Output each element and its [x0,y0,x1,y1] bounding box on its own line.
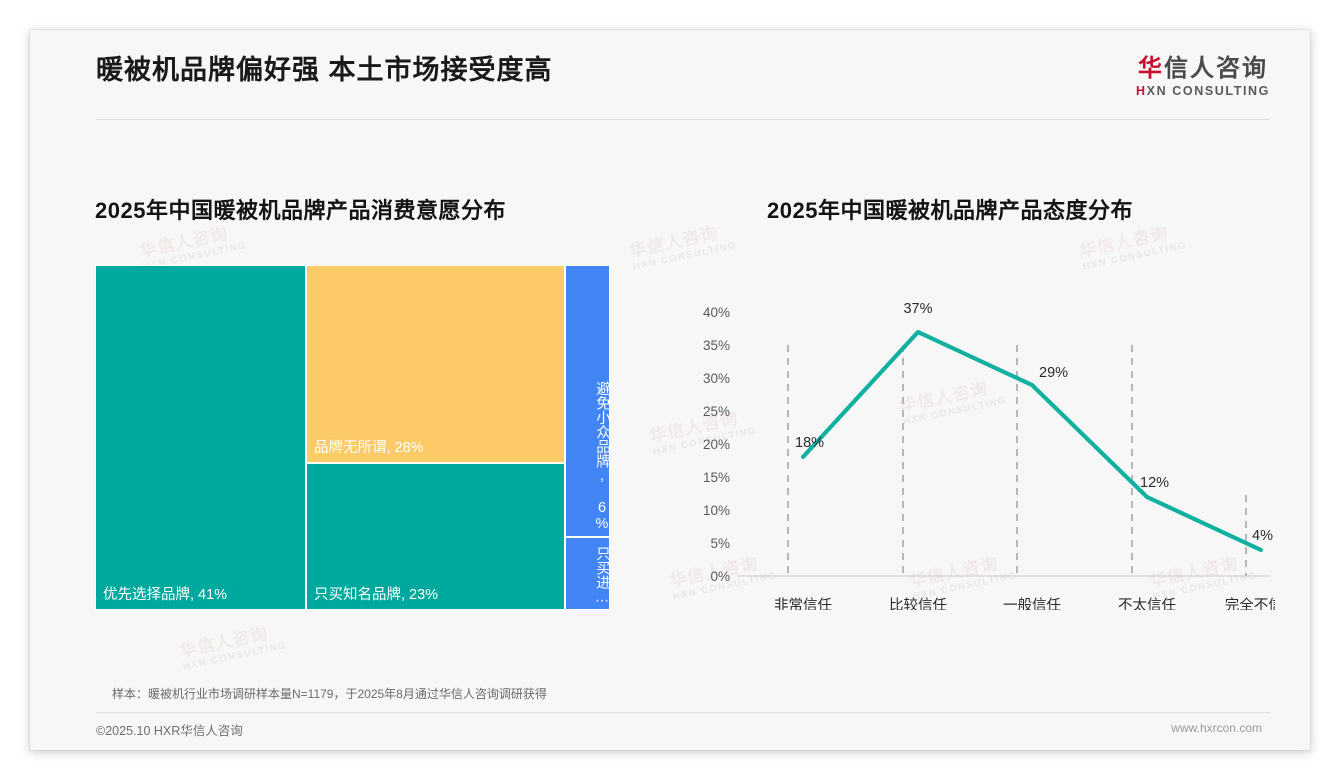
y-tick-20: 20% [703,437,730,452]
y-tick-25: 25% [703,404,730,419]
treemap-cell-label: 优先选择品牌, 41% [103,583,227,604]
point-label-4: 12% [1140,475,1169,491]
y-tick-35: 35% [703,338,730,353]
page-title: 暖被机品牌偏好强 本土市场接受度高 [96,48,553,87]
treemap-cell-priority-brand[interactable]: 优先选择品牌, 41% [95,265,306,610]
treemap-cell-brand-indifferent[interactable]: 品牌无所谓, 28% [306,265,565,463]
company-logo: 华信人咨询 HXN CONSULTING [1136,56,1270,98]
watermark: 华信人咨询HXN CONSULTING [178,619,288,673]
footer-divider [96,712,1270,713]
y-tick-40: 40% [703,305,730,320]
website-url[interactable]: www.hxrcon.com [1171,721,1262,735]
y-tick-30: 30% [703,371,730,386]
trust-line-series[interactable] [803,332,1261,550]
treemap-chart: 优先选择品牌, 41% 品牌无所谓, 28% 只买知名品牌, 23% 避免小众品… [95,265,610,610]
treemap-cell-famous-brand-only[interactable]: 只买知名品牌, 23% [306,463,565,610]
y-axis-ticks: 40% 35% 30% 25% 20% 15% 10% 5% 0% [703,305,730,584]
category-label-4: 不太信任 [1118,597,1176,610]
logo-en-rest: XN CONSULTING [1147,84,1270,98]
logo-en-red: H [1136,84,1147,98]
y-tick-10: 10% [703,503,730,518]
x-axis-categories: 非常信任 比较信任 一般信任 不太信任 完全不信任 [774,596,1275,610]
treemap-cell-label: 只买进… [566,546,609,606]
point-labels: 18% 37% 29% 12% 4% [795,301,1273,544]
treemap-cell-label: 避免小众品牌, 6% [566,381,609,532]
treemap-cell-avoid-niche-brand[interactable]: 避免小众品牌, 6% [565,265,610,537]
logo-english: HXN CONSULTING [1136,84,1270,98]
point-label-2: 37% [903,301,932,317]
logo-cn-red: 华 [1138,55,1164,82]
logo-cn-rest: 信人咨询 [1164,55,1268,82]
category-label-2: 比较信任 [889,596,947,610]
right-chart-title: 2025年中国暖被机品牌产品态度分布 [767,193,1133,225]
header-divider [96,119,1270,120]
y-tick-15: 15% [703,470,730,485]
left-chart-title: 2025年中国暖被机品牌产品消费意愿分布 [95,193,506,225]
category-label-3: 一般信任 [1003,597,1061,610]
line-chart: 40% 35% 30% 25% 20% 15% 10% 5% 0% [655,265,1275,610]
treemap-cell-imported-brand-only[interactable]: 只买进… [565,537,610,610]
source-footnote: 样本：暖被机行业市场调研样本量N=1179，于2025年8月通过华信人咨询调研获… [112,685,547,702]
treemap-cell-label: 品牌无所谓, 28% [314,436,424,457]
point-label-3: 29% [1039,365,1068,381]
point-label-1: 18% [795,435,824,451]
y-tick-0: 0% [710,569,730,584]
point-label-5: 4% [1252,528,1273,544]
logo-chinese: 华信人咨询 [1136,56,1270,82]
copyright-text: ©2025.10 HXR华信人咨询 [96,720,243,739]
line-chart-svg: 40% 35% 30% 25% 20% 15% 10% 5% 0% [655,265,1275,610]
category-label-5: 完全不信任 [1225,596,1275,610]
y-tick-5: 5% [710,536,730,551]
slide-header: 暖被机品牌偏好强 本土市场接受度高 华信人咨询 HXN CONSULTING [30,30,1310,100]
category-label-1: 非常信任 [774,597,832,610]
treemap-cell-label: 只买知名品牌, 23% [314,583,438,604]
slide-canvas: 华信人咨询HXN CONSULTING 华信人咨询HXN CONSULTING … [30,30,1310,750]
